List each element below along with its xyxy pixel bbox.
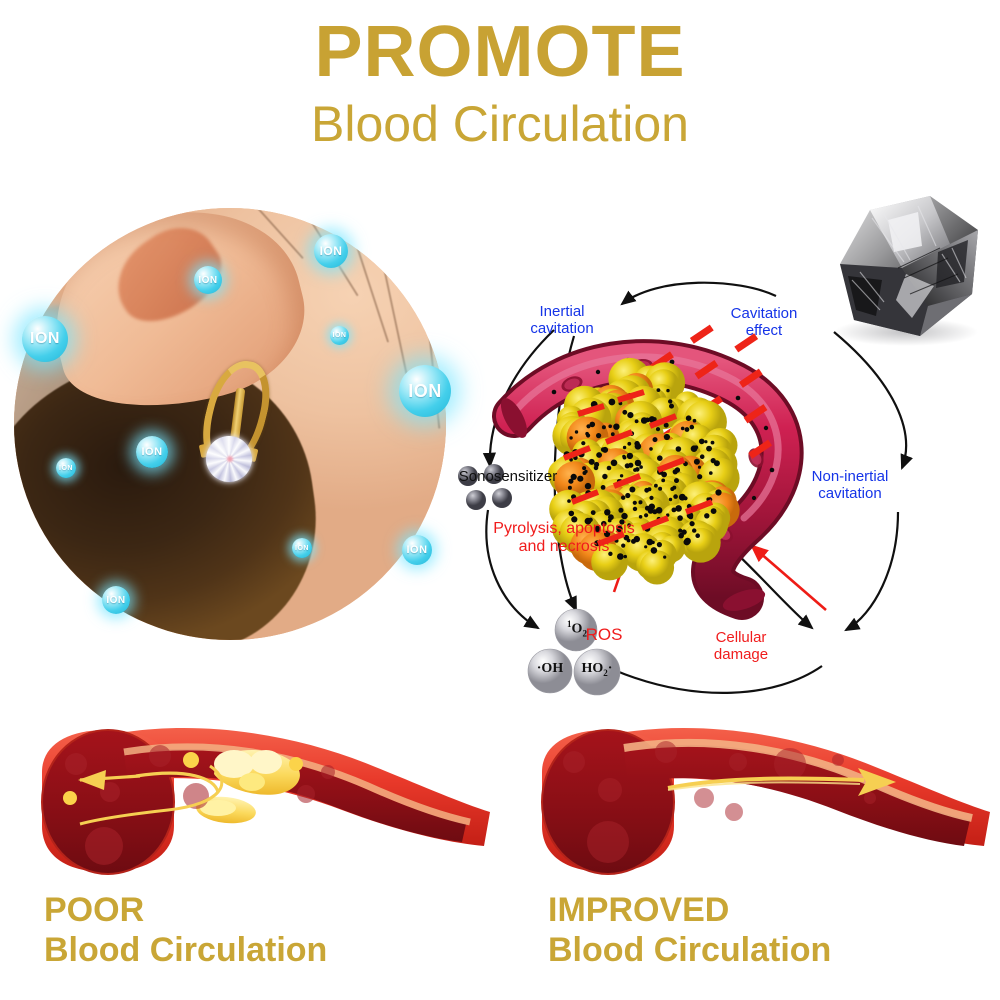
ion-bubble: ION [399, 365, 451, 417]
improved-label-line2: Blood Circulation [548, 930, 831, 970]
ion-bubble: ION [22, 316, 68, 362]
ion-bubble: ION [136, 436, 168, 468]
label-line-1: ROS [586, 625, 623, 644]
label-line-2: and necrosis [493, 538, 634, 556]
diagram-label-ros: ROS [586, 625, 623, 644]
improved-circulation-illustration [528, 706, 998, 896]
diagram-label-non-inertial-cavitation: Non-inertialcavitation [812, 469, 889, 503]
label-line-1: Pyrolysis, apoptosis [493, 520, 634, 538]
ion-bubble: ION [330, 326, 349, 345]
label-line-1: Cellular [714, 630, 768, 647]
label-line-2: effect [731, 323, 798, 340]
page-title: PROMOTE [0, 12, 1000, 92]
label-line-1: Cavitation [731, 306, 798, 323]
ion-bubble: ION [402, 535, 432, 565]
ion-bubble: ION [314, 234, 348, 268]
diagram-label-cavitation-effect: Cavitationeffect [731, 306, 798, 340]
diagram-label-layer: InertialcavitationCavitationeffectNon-in… [446, 262, 1000, 710]
label-line-1: Sonosensitizer [459, 469, 557, 486]
label-line-2: cavitation [530, 321, 593, 338]
label-line-1: Non-inertial [812, 469, 889, 486]
poor-circulation-illustration [28, 706, 498, 896]
diagram-label-pyrolysis-apoptosis: Pyrolysis, apoptosisand necrosis [493, 520, 634, 556]
ion-bubble: ION [102, 586, 130, 614]
ion-bubble: ION [194, 266, 222, 294]
ion-bubble: ION [292, 538, 312, 558]
improved-circulation-caption: IMPROVED Blood Circulation [548, 890, 831, 970]
poor-label-line2: Blood Circulation [44, 930, 327, 970]
cavitation-mechanism-diagram: 1O2 ·OH HO2· InertialcavitationCavitatio… [446, 262, 1000, 710]
improved-label-line1: IMPROVED [548, 890, 831, 930]
page-header: PROMOTE Blood Circulation [0, 0, 1000, 152]
ear-photo-panel: IONIONIONIONIONIONIONIONIONION [14, 208, 446, 640]
label-line-2: damage [714, 647, 768, 664]
poor-label-line1: POOR [44, 890, 327, 930]
poor-circulation-caption: POOR Blood Circulation [44, 890, 327, 970]
label-line-2: cavitation [812, 486, 889, 503]
infographic-root: PROMOTE Blood Circulation [0, 0, 1000, 1000]
diagram-label-cellular-damage: Cellulardamage [714, 630, 768, 664]
page-subtitle: Blood Circulation [0, 96, 1000, 152]
diagram-label-inertial-cavitation: Inertialcavitation [530, 304, 593, 338]
ion-bubble-layer: IONIONIONIONIONIONIONIONIONION [14, 208, 446, 640]
label-line-1: Inertial [530, 304, 593, 321]
diagram-label-sonosensitizer: Sonosensitizer [459, 469, 557, 486]
ion-bubble: ION [56, 458, 76, 478]
